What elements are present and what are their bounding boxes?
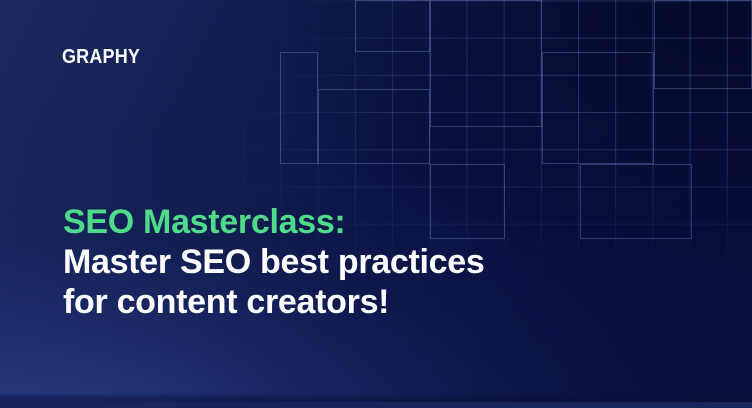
- headline-accent-line: SEO Masterclass:: [63, 202, 484, 242]
- headline-line-two: Master SEO best practices: [63, 242, 484, 282]
- grid-accent-cell: [280, 52, 318, 164]
- brand-logo: GRAPHY: [62, 47, 140, 67]
- headline-line-three: for content creators!: [63, 282, 484, 322]
- grid-accent-cell: [355, 0, 430, 52]
- grid-accent-cell: [654, 0, 752, 89]
- grid-accent-cell: [318, 89, 430, 164]
- grid-accent-cell: [580, 164, 692, 239]
- bottom-edge-strip: [0, 402, 752, 408]
- grid-accent-cell: [430, 0, 542, 127]
- headline-block: SEO Masterclass: Master SEO best practic…: [63, 202, 484, 322]
- promo-banner: GRAPHY SEO Masterclass: Master SEO best …: [0, 0, 752, 408]
- grid-accent-cell: [542, 52, 654, 164]
- bottom-shadow-band: [0, 393, 752, 402]
